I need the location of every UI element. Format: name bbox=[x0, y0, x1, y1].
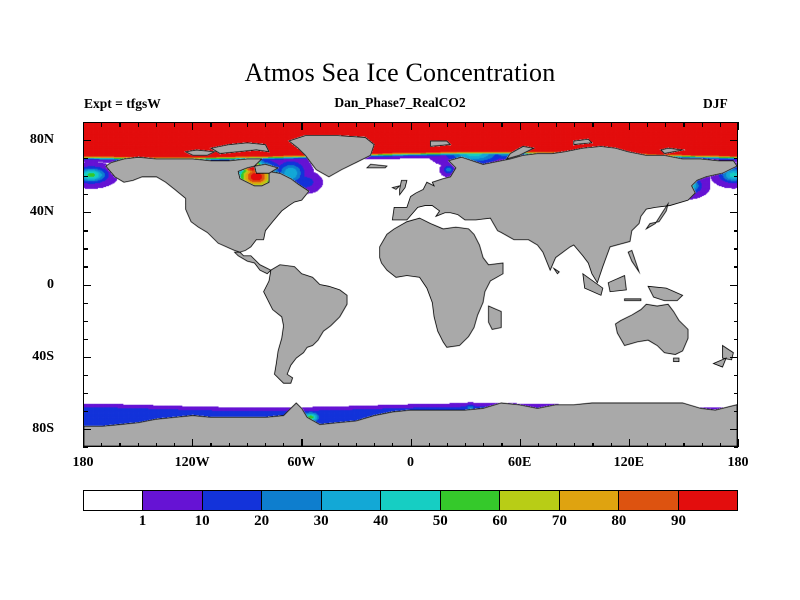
tick-mark bbox=[210, 122, 211, 127]
tick-mark bbox=[734, 411, 739, 412]
colorbar-tick-label: 30 bbox=[314, 513, 329, 530]
tick-mark bbox=[574, 443, 575, 448]
tick-mark bbox=[734, 321, 739, 322]
tick-mark bbox=[629, 439, 630, 447]
tick-mark bbox=[83, 176, 88, 177]
tick-mark bbox=[138, 443, 139, 448]
tick-mark bbox=[265, 443, 266, 448]
colorbar-segment bbox=[678, 491, 737, 510]
colorbar-tick-label: 70 bbox=[552, 513, 567, 530]
tick-mark bbox=[665, 443, 666, 448]
colorbar-segment bbox=[499, 491, 558, 510]
tick-mark bbox=[356, 122, 357, 127]
tick-mark bbox=[83, 375, 88, 376]
colorbar-tick-label: 90 bbox=[671, 513, 686, 530]
tick-mark bbox=[738, 122, 739, 130]
tick-mark bbox=[734, 230, 739, 231]
colorbar-segment bbox=[261, 491, 320, 510]
colorbar-segment bbox=[559, 491, 618, 510]
tick-mark bbox=[392, 443, 393, 448]
tick-mark bbox=[83, 248, 88, 249]
tick-mark bbox=[738, 439, 739, 447]
tick-mark bbox=[734, 393, 739, 394]
tick-mark bbox=[702, 122, 703, 127]
tick-mark bbox=[465, 122, 466, 127]
tick-mark bbox=[156, 443, 157, 448]
colorbar-segment bbox=[142, 491, 201, 510]
sea-ice-map-canvas bbox=[84, 123, 737, 446]
tick-mark bbox=[665, 122, 666, 127]
tick-mark bbox=[192, 122, 193, 130]
tick-mark bbox=[720, 122, 721, 127]
sea-ice-concentration-figure: Atmos Sea Ice Concentration Dan_Phase7_R… bbox=[0, 0, 800, 600]
tick-mark bbox=[174, 443, 175, 448]
tick-mark bbox=[538, 443, 539, 448]
tick-mark bbox=[83, 321, 88, 322]
tick-mark bbox=[229, 122, 230, 127]
tick-mark bbox=[247, 122, 248, 127]
tick-mark bbox=[119, 122, 120, 127]
tick-mark bbox=[734, 266, 739, 267]
tick-mark bbox=[301, 439, 302, 447]
tick-mark bbox=[392, 122, 393, 127]
tick-mark bbox=[83, 140, 91, 141]
tick-mark bbox=[338, 122, 339, 127]
tick-mark bbox=[520, 439, 521, 447]
x-axis-label: 120W bbox=[175, 455, 210, 471]
tick-mark bbox=[301, 122, 302, 130]
tick-mark bbox=[611, 443, 612, 448]
tick-mark bbox=[520, 122, 521, 130]
x-axis-label: 180 bbox=[728, 455, 749, 471]
colorbar-segment bbox=[380, 491, 439, 510]
tick-mark bbox=[734, 248, 739, 249]
colorbar bbox=[83, 490, 738, 511]
tick-mark bbox=[465, 443, 466, 448]
tick-mark bbox=[320, 122, 321, 127]
tick-mark bbox=[447, 443, 448, 448]
tick-mark bbox=[734, 303, 739, 304]
colorbar-tick-label: 10 bbox=[195, 513, 210, 530]
tick-mark bbox=[720, 443, 721, 448]
tick-mark bbox=[734, 339, 739, 340]
colorbar-tick-label: 20 bbox=[254, 513, 269, 530]
colorbar-segment bbox=[618, 491, 677, 510]
tick-mark bbox=[247, 443, 248, 448]
tick-mark bbox=[83, 122, 84, 130]
tick-mark bbox=[683, 443, 684, 448]
tick-mark bbox=[283, 122, 284, 127]
colorbar-segment bbox=[321, 491, 380, 510]
tick-mark bbox=[730, 212, 738, 213]
tick-mark bbox=[83, 447, 88, 448]
tick-mark bbox=[374, 443, 375, 448]
tick-mark bbox=[734, 122, 739, 123]
tick-mark bbox=[83, 439, 84, 447]
tick-mark bbox=[734, 447, 739, 448]
tick-mark bbox=[574, 122, 575, 127]
tick-mark bbox=[556, 443, 557, 448]
tick-mark bbox=[429, 122, 430, 127]
tick-mark bbox=[83, 158, 88, 159]
x-axis-label: 0 bbox=[407, 455, 414, 471]
tick-mark bbox=[101, 122, 102, 127]
tick-mark bbox=[229, 443, 230, 448]
season-label: DJF bbox=[703, 96, 728, 112]
colorbar-tick-label: 60 bbox=[492, 513, 507, 530]
tick-mark bbox=[374, 122, 375, 127]
colorbar-tick-label: 50 bbox=[433, 513, 448, 530]
tick-mark bbox=[83, 122, 88, 123]
tick-mark bbox=[83, 266, 88, 267]
tick-mark bbox=[734, 158, 739, 159]
tick-mark bbox=[83, 411, 88, 412]
tick-mark bbox=[592, 443, 593, 448]
tick-mark bbox=[265, 122, 266, 127]
tick-mark bbox=[192, 439, 193, 447]
tick-mark bbox=[83, 393, 88, 394]
colorbar-tick-label: 1 bbox=[139, 513, 147, 530]
tick-mark bbox=[83, 339, 88, 340]
tick-mark bbox=[483, 443, 484, 448]
tick-mark bbox=[119, 443, 120, 448]
y-axis-label: 40S bbox=[32, 349, 54, 365]
tick-mark bbox=[356, 443, 357, 448]
tick-mark bbox=[730, 357, 738, 358]
tick-mark bbox=[556, 122, 557, 127]
y-axis-label: 80N bbox=[30, 132, 54, 148]
x-axis-label: 60E bbox=[508, 455, 531, 471]
colorbar-segment bbox=[440, 491, 499, 510]
tick-mark bbox=[338, 443, 339, 448]
tick-mark bbox=[592, 122, 593, 127]
map-plot-area bbox=[83, 122, 738, 447]
tick-mark bbox=[730, 140, 738, 141]
x-axis-label: 180 bbox=[73, 455, 94, 471]
colorbar-segment bbox=[84, 491, 142, 510]
tick-mark bbox=[83, 194, 88, 195]
tick-mark bbox=[83, 212, 91, 213]
tick-mark bbox=[83, 285, 91, 286]
experiment-label: Expt = tfgsW bbox=[84, 96, 161, 112]
tick-mark bbox=[647, 443, 648, 448]
tick-mark bbox=[501, 122, 502, 127]
tick-mark bbox=[538, 122, 539, 127]
tick-mark bbox=[611, 122, 612, 127]
tick-mark bbox=[283, 443, 284, 448]
tick-mark bbox=[734, 194, 739, 195]
page-title: Atmos Sea Ice Concentration bbox=[0, 58, 800, 88]
tick-mark bbox=[429, 443, 430, 448]
tick-mark bbox=[101, 443, 102, 448]
y-axis-label: 40N bbox=[30, 204, 54, 220]
tick-mark bbox=[411, 439, 412, 447]
tick-mark bbox=[83, 303, 88, 304]
tick-mark bbox=[210, 443, 211, 448]
tick-mark bbox=[83, 230, 88, 231]
tick-mark bbox=[174, 122, 175, 127]
colorbar-tick-label: 40 bbox=[373, 513, 388, 530]
tick-mark bbox=[320, 443, 321, 448]
tick-mark bbox=[702, 443, 703, 448]
tick-mark bbox=[730, 285, 738, 286]
x-axis-label: 60W bbox=[287, 455, 315, 471]
tick-mark bbox=[734, 176, 739, 177]
y-axis-label: 0 bbox=[47, 277, 54, 293]
colorbar-segment bbox=[202, 491, 261, 510]
tick-mark bbox=[683, 122, 684, 127]
tick-mark bbox=[83, 357, 91, 358]
x-axis-label: 120E bbox=[614, 455, 644, 471]
y-axis-label: 80S bbox=[32, 421, 54, 437]
tick-mark bbox=[734, 375, 739, 376]
tick-mark bbox=[483, 122, 484, 127]
tick-mark bbox=[730, 429, 738, 430]
tick-mark bbox=[156, 122, 157, 127]
tick-mark bbox=[411, 122, 412, 130]
tick-mark bbox=[501, 443, 502, 448]
tick-mark bbox=[447, 122, 448, 127]
tick-mark bbox=[138, 122, 139, 127]
tick-mark bbox=[83, 429, 91, 430]
tick-mark bbox=[647, 122, 648, 127]
tick-mark bbox=[629, 122, 630, 130]
colorbar-tick-label: 80 bbox=[611, 513, 626, 530]
